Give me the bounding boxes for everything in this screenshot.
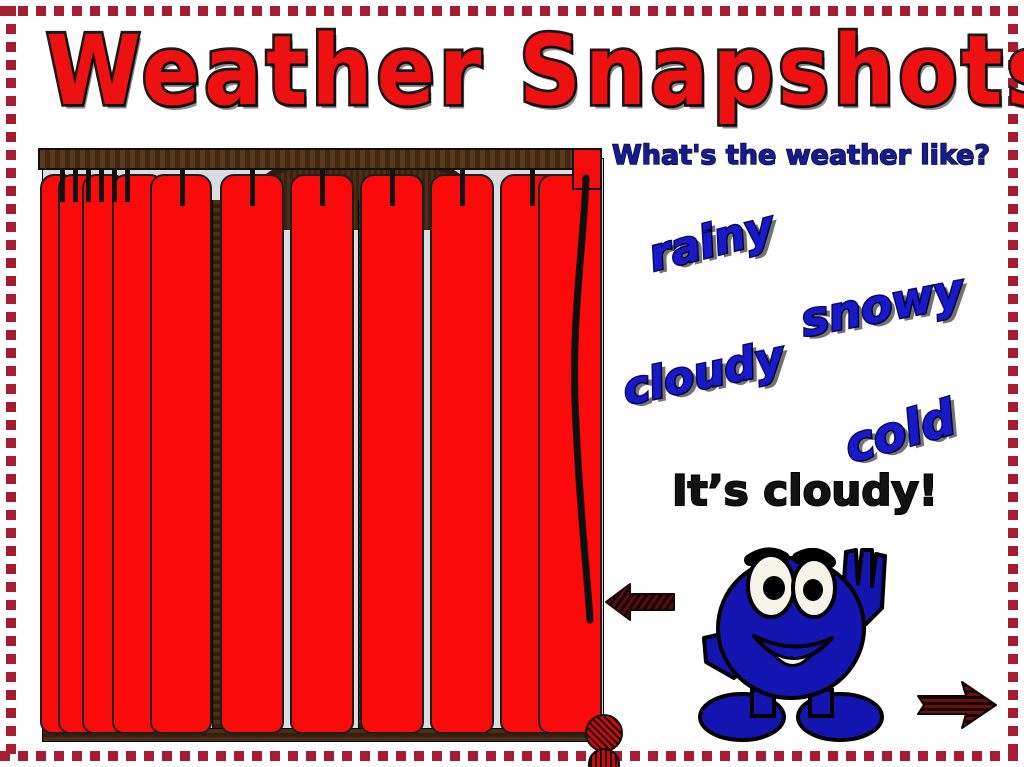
back-arrow[interactable] — [604, 580, 676, 624]
blind-slat[interactable] — [360, 174, 424, 734]
slide-canvas: Weather Snapshots — [0, 0, 1024, 767]
cord-tassel-ball[interactable] — [585, 714, 623, 752]
character-pupil-right — [803, 579, 823, 601]
weather-word-cold[interactable]: cold — [838, 390, 961, 475]
border-top — [0, 6, 1024, 16]
blind-hanger — [86, 168, 91, 202]
next-arrow[interactable] — [914, 678, 998, 732]
blind-slat[interactable] — [220, 174, 284, 734]
blind-hanger — [60, 168, 65, 202]
blind-hanger — [99, 168, 104, 202]
blind-hanger — [73, 168, 78, 202]
blind-hanger — [250, 168, 255, 206]
blind-hanger — [320, 168, 325, 206]
blind-rail-endcap — [572, 148, 602, 190]
blind-slat[interactable] — [538, 174, 602, 734]
answer-text: It’s cloudy! — [672, 466, 938, 515]
border-bottom — [0, 751, 1024, 761]
window-blinds[interactable] — [38, 140, 608, 740]
blind-hanger — [180, 168, 185, 206]
blind-headrail — [38, 148, 588, 170]
blind-hanger — [530, 168, 535, 206]
blue-smiley-character — [690, 512, 900, 742]
weather-word-cloudy[interactable]: cloudy — [618, 332, 788, 416]
question-text: What's the weather like? — [612, 140, 990, 171]
border-left — [6, 6, 16, 761]
page-title: Weather Snapshots — [46, 18, 1006, 126]
weather-word-rainy[interactable]: rainy — [644, 201, 779, 281]
blind-hanger — [125, 168, 130, 202]
blind-hanger — [112, 168, 117, 202]
blind-hanger — [460, 168, 465, 206]
weather-word-snowy[interactable]: snowy — [796, 263, 968, 347]
blind-slat[interactable] — [290, 174, 354, 734]
blind-hanger — [390, 168, 395, 206]
blind-slat[interactable] — [150, 174, 212, 734]
blind-slat[interactable] — [430, 174, 494, 734]
character-pupil-left — [763, 576, 785, 600]
